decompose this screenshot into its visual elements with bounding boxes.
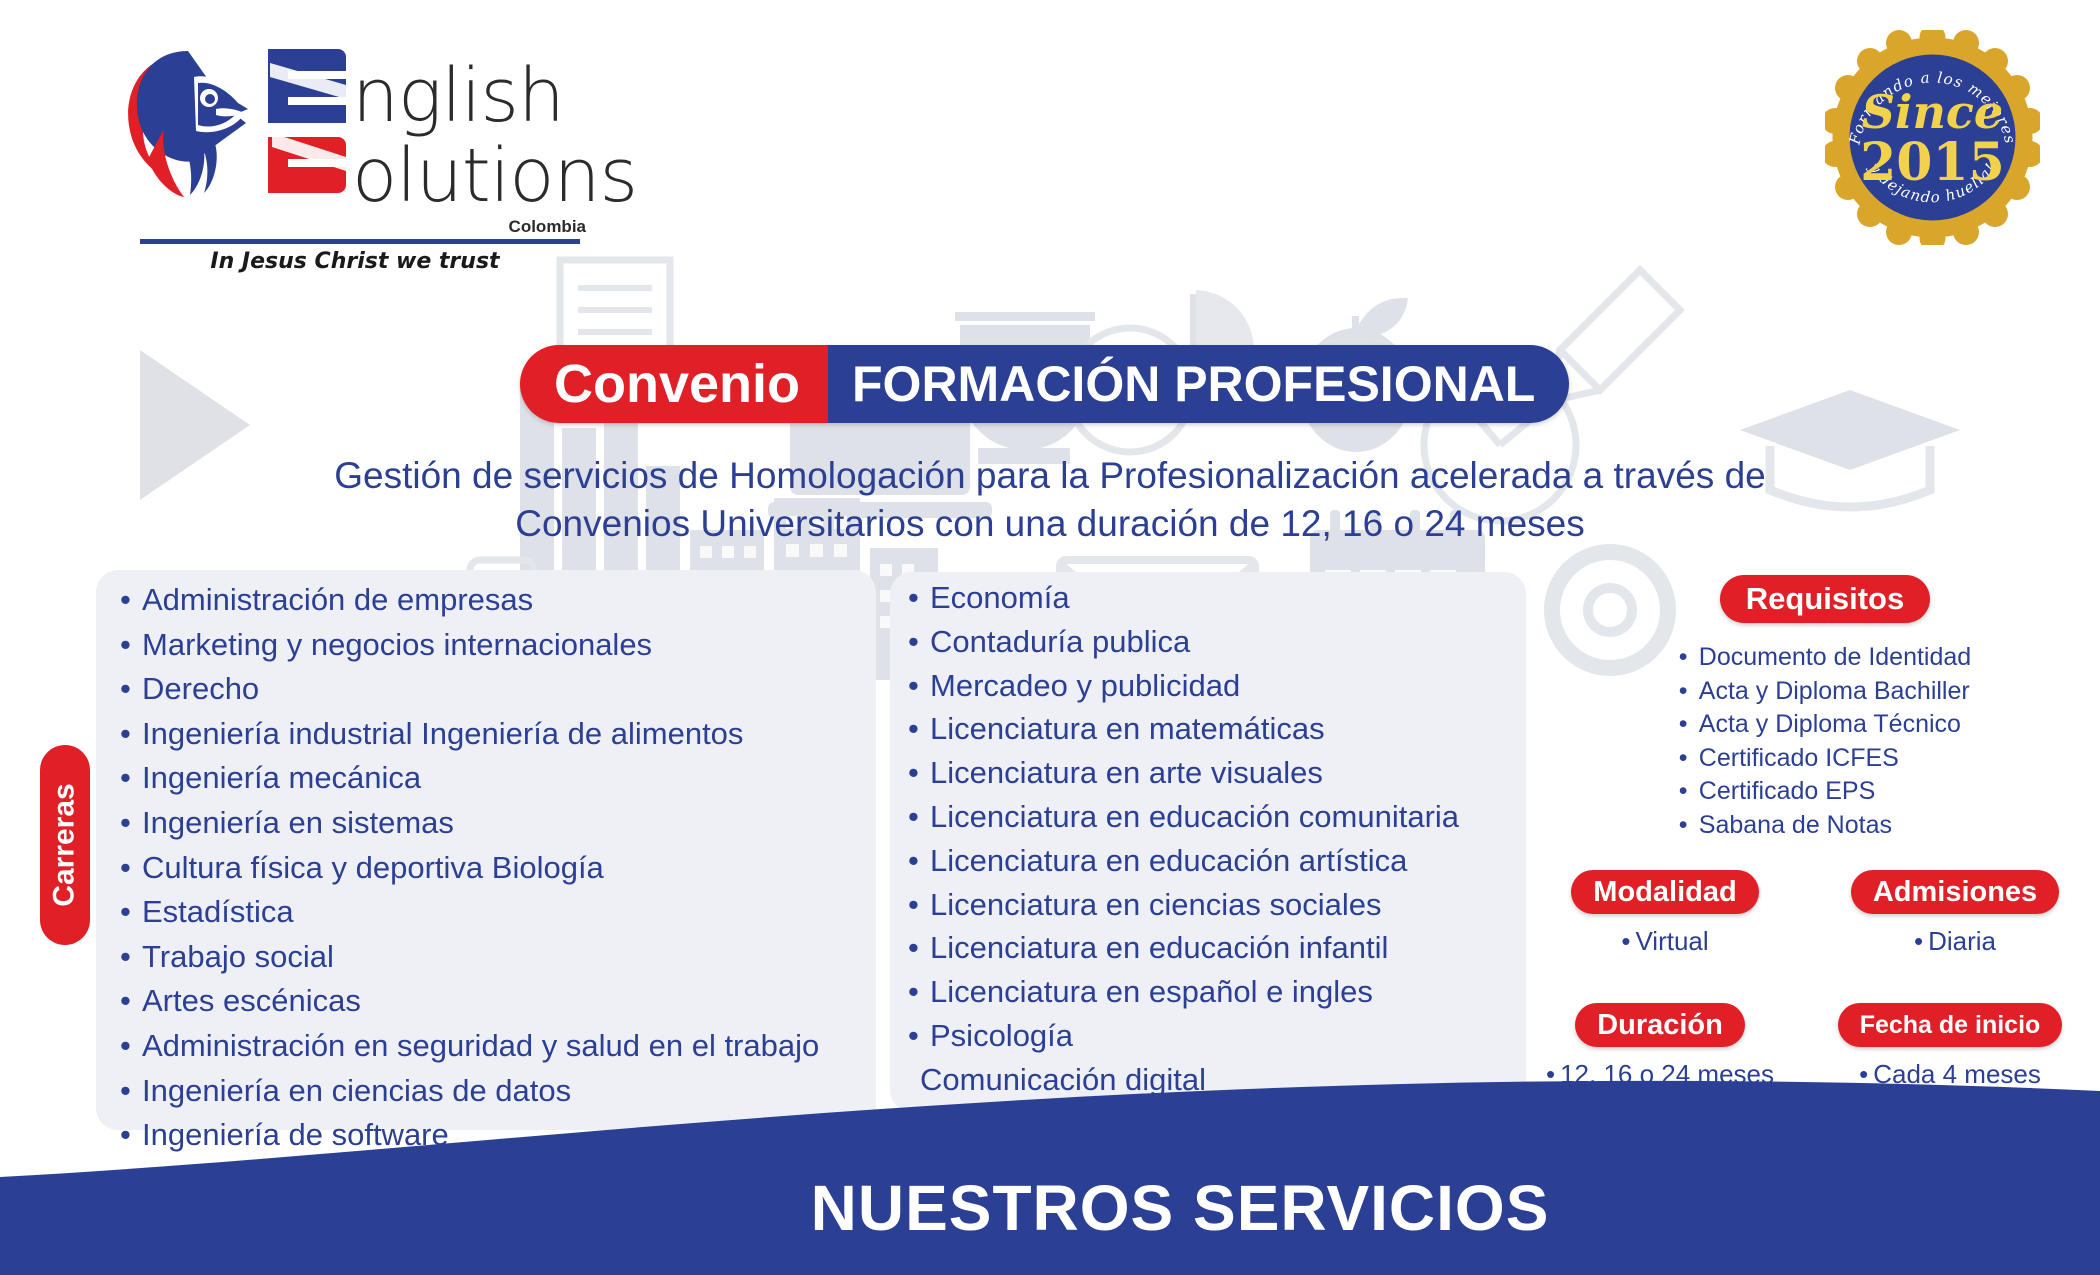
list-item: Ingeniería industrial Ingeniería de alim… <box>118 712 878 757</box>
list-item: Marketing y negocios internacionales <box>118 623 878 668</box>
logo-divider-rule <box>140 239 580 244</box>
title-main: FORMACIÓN PROFESIONAL <box>828 345 1569 423</box>
list-item: Licenciatura en educación artística <box>906 839 1526 883</box>
list-item: Ingeniería en sistemas <box>118 801 878 846</box>
footer-label: NUESTROS SERVICIOS <box>0 1171 2100 1245</box>
list-item: Certificado EPS <box>1679 775 1971 809</box>
modalidad-value: Virtual <box>1540 926 1790 957</box>
since-badge: Formando a los mejores y dejando huella!… <box>1825 30 2040 245</box>
list-item: Mercadeo y publicidad <box>906 664 1526 708</box>
subtitle-line-2: Convenios Universitarios con una duració… <box>200 500 1900 548</box>
title-banner: Convenio FORMACIÓN PROFESIONAL <box>520 345 1569 423</box>
list-item: Certificado ICFES <box>1679 742 1971 776</box>
subtitle: Gestión de servicios de Homologación par… <box>200 452 1900 548</box>
admisiones-block: Admisiones Diaria <box>1830 870 2080 957</box>
list-item: Estadística <box>118 890 878 935</box>
carreras-side-tab: Carreras <box>40 745 90 945</box>
list-item: Licenciatura en ciencias sociales <box>906 883 1526 927</box>
list-item: Psicología <box>906 1014 1526 1058</box>
list-item: Artes escénicas <box>118 979 878 1024</box>
brand-wordmark: nglish olutions <box>352 57 637 215</box>
list-item: Acta y Diploma Técnico <box>1679 708 1971 742</box>
title-highlight: Convenio <box>520 345 828 423</box>
list-item: Licenciatura en educación infantil <box>906 926 1526 970</box>
badge-since-year: 2015 <box>1860 132 2005 193</box>
list-item: Licenciatura en español e ingles <box>906 970 1526 1014</box>
since-badge-seal-icon: Formando a los mejores y dejando huella!… <box>1825 30 2040 245</box>
list-item: Cultura física y deportiva Biología <box>118 846 878 891</box>
badge-since-word: Since <box>1862 85 2003 139</box>
list-item: Licenciatura en arte visuales <box>906 751 1526 795</box>
list-item: Derecho <box>118 667 878 712</box>
subtitle-line-1: Gestión de servicios de Homologación par… <box>200 452 1900 500</box>
brand-country: Colombia <box>509 217 586 237</box>
list-item: Sabana de Notas <box>1679 809 1971 843</box>
admisiones-title-pill: Admisiones <box>1851 870 2059 914</box>
brand-name-line1: nglish <box>352 53 564 139</box>
eagle-logo-icon <box>120 43 260 218</box>
brand-name-line2: olutions <box>352 137 637 215</box>
brand-tagline: In Jesus Christ we trust <box>120 249 590 274</box>
carreras-tab-label: Carreras <box>48 783 82 906</box>
requisitos-title-pill: Requisitos <box>1720 575 1930 623</box>
admisiones-value: Diaria <box>1830 926 2080 957</box>
list-item: Documento de Identidad <box>1679 641 1971 675</box>
list-item: Administración en seguridad y salud en e… <box>118 1024 878 1069</box>
list-item: Trabajo social <box>118 935 878 980</box>
modalidad-title-pill: Modalidad <box>1571 870 1758 914</box>
es-monogram-icon <box>268 45 346 215</box>
list-item: Economía <box>906 576 1526 620</box>
careers-list-middle: EconomíaContaduría publicaMercadeo y pub… <box>906 576 1526 1102</box>
modalidad-block: Modalidad Virtual <box>1540 870 1790 957</box>
brand-logo: nglish olutions Colombia In Jesus Christ… <box>120 35 590 230</box>
fecha-inicio-title-pill: Fecha de inicio <box>1838 1003 2063 1047</box>
list-item: Licenciatura en educación comunitaria <box>906 795 1526 839</box>
poster-canvas: nglish olutions Colombia In Jesus Christ… <box>0 0 2100 1275</box>
duracion-title-pill: Duración <box>1575 1003 1745 1047</box>
requisitos-list: Documento de IdentidadActa y Diploma Bac… <box>1679 641 1971 842</box>
requisitos-block: Requisitos Documento de IdentidadActa y … <box>1590 575 2060 842</box>
list-item: Ingeniería mecánica <box>118 756 878 801</box>
list-item: Contaduría publica <box>906 620 1526 664</box>
list-item: Acta y Diploma Bachiller <box>1679 675 1971 709</box>
list-item: Licenciatura en matemáticas <box>906 707 1526 751</box>
list-item: Administración de empresas <box>118 578 878 623</box>
